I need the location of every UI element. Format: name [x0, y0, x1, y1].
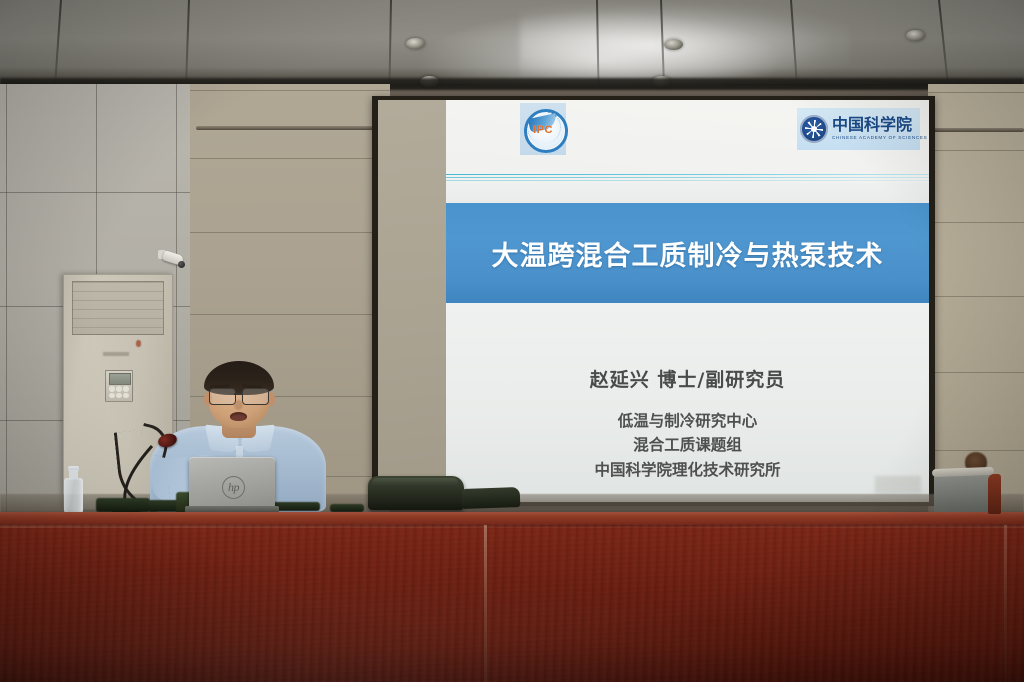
downlight-icon [406, 38, 425, 49]
cas-logo-chinese: 中国科学院 [832, 117, 927, 133]
ceiling-seam [54, 0, 62, 84]
ipc-logo-icon: IPC [520, 103, 566, 155]
ceiling-glare [520, 4, 850, 78]
chair-armrest [988, 474, 1001, 514]
slide-title: 大温跨混合工质制冷与热泵技术 [492, 234, 884, 273]
cas-emblem-icon [800, 115, 828, 143]
podium [0, 512, 1024, 682]
ac-control-panel[interactable] [105, 370, 133, 402]
security-camera [157, 250, 187, 276]
hp-logo-icon: hp [222, 476, 245, 499]
slide-header-shade [446, 183, 929, 203]
slide-title-band: 大温跨混合工质制冷与热泵技术 [446, 203, 929, 303]
downlight-icon [906, 30, 925, 41]
presentation-slide: IPC 中国科学院 CHINESE ACADEMY OF SCIENCES [446, 100, 929, 502]
secondary-bag[interactable] [462, 487, 521, 509]
slide-presenter-name: 赵延兴 博士/副研究员 [446, 365, 929, 392]
chinese-academy-of-sciences-logo: 中国科学院 CHINESE ACADEMY OF SCIENCES [797, 108, 920, 150]
presenter-nose [234, 400, 243, 410]
laptop-bag-flap [372, 478, 458, 487]
slide-footer-note [875, 476, 921, 494]
desk-cable-bundle [96, 498, 150, 512]
conference-room-photo: IPC 中国科学院 CHINESE ACADEMY OF SCIENCES [0, 0, 1024, 682]
podium-panel-seam [1004, 525, 1007, 682]
ac-sticker [136, 340, 141, 347]
ac-display [109, 373, 131, 385]
water-bottle[interactable] [64, 466, 83, 514]
cas-logo-english: CHINESE ACADEMY OF SCIENCES [832, 136, 927, 141]
ipc-logo-text: IPC [520, 124, 566, 136]
wall-pipe [196, 126, 392, 130]
podium-panel-seam [484, 525, 487, 682]
downlight-icon [664, 39, 683, 50]
slide-affiliation-line-2: 混合工质课题组 [446, 434, 929, 456]
projection-screen-frame: IPC 中国科学院 CHINESE ACADEMY OF SCIENCES [372, 96, 935, 506]
hp-laptop[interactable]: hp [189, 457, 275, 513]
slide-body: 赵延兴 博士/副研究员 低温与制冷研究中心 混合工质课题组 中国科学院理化技术研… [446, 303, 929, 502]
slide-affiliation-line-1: 低温与制冷研究中心 [446, 410, 929, 432]
ceiling-seam [389, 0, 392, 84]
ceiling-seam [185, 0, 190, 84]
ac-buttons[interactable] [109, 386, 129, 398]
slide-divider-rules [446, 174, 929, 183]
desk-cable [330, 504, 364, 512]
projection-screen-canvas: IPC 中国科学院 CHINESE ACADEMY OF SCIENCES [378, 100, 929, 502]
slide-affiliation-line-3: 中国科学院理化技术研究所 [446, 459, 929, 481]
slide-header: IPC 中国科学院 CHINESE ACADEMY OF SCIENCES [446, 100, 929, 174]
audience-chair [930, 466, 1000, 516]
podium-wood-grain [0, 524, 1024, 682]
presenter-mouth [230, 412, 247, 421]
wall-pipe [930, 128, 1024, 132]
chair-back [934, 472, 992, 512]
ac-air-grille [72, 281, 164, 335]
ceiling [0, 0, 1024, 86]
ceiling-seam [938, 0, 949, 84]
ac-brand-mark [103, 352, 129, 356]
camera-lens-icon [178, 261, 185, 268]
